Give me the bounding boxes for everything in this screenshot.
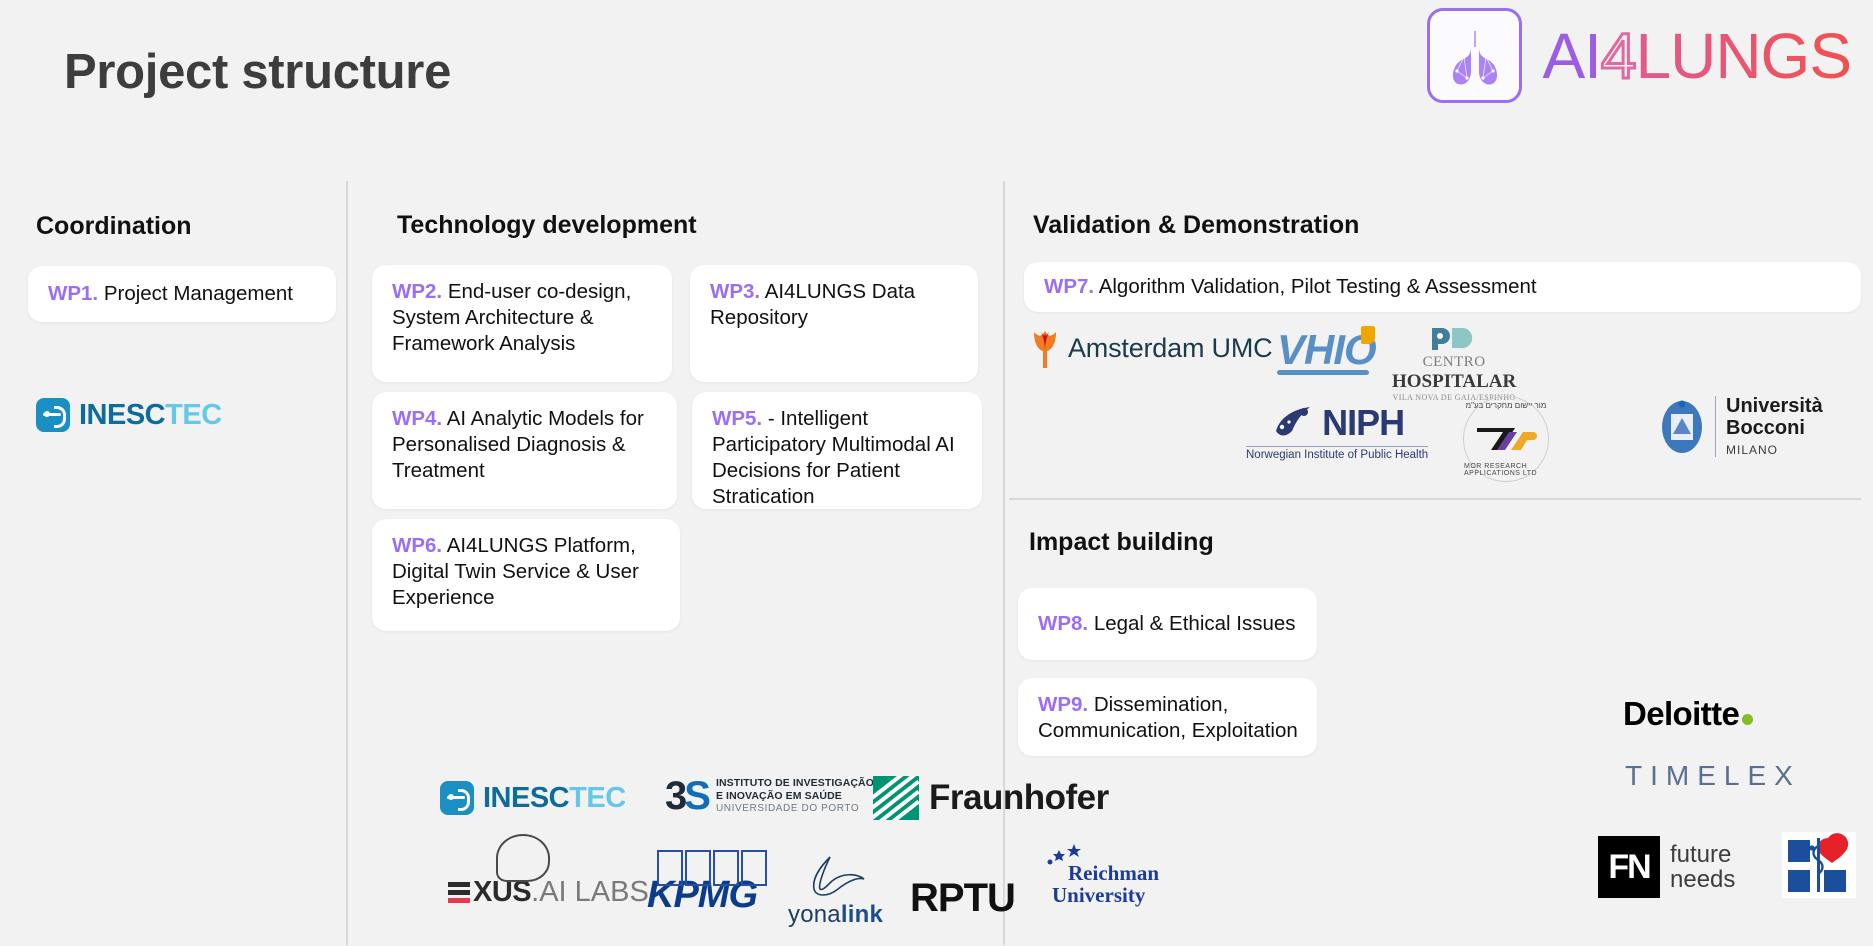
medical-partner-logo xyxy=(1782,832,1856,898)
centro-hospitalar-line-1: CENTRO xyxy=(1423,354,1486,371)
page-title: Project structure xyxy=(64,44,451,100)
lungs-icon xyxy=(1427,8,1522,103)
medical-partner-icon xyxy=(1782,832,1856,898)
exus-wordmark-light: .AI LABS xyxy=(531,876,649,909)
rptu-wordmark: RPTU xyxy=(910,876,1015,921)
i3s-text-block: INSTITUTO DE INVESTIGAÇÃO E INOVAÇÃO EM … xyxy=(716,777,874,815)
niph-mark-row: NIPH xyxy=(1270,402,1404,444)
inesctec-text-a: INESC xyxy=(483,782,569,814)
wp-tag: WP2. xyxy=(392,280,442,303)
wp-tag: WP1. xyxy=(48,282,98,305)
reichman-line-2: University xyxy=(1052,884,1145,906)
future-needs-logo: FN future needs xyxy=(1598,836,1735,898)
wp-tag: WP5. xyxy=(712,407,762,430)
bocconi-line-3: MILANO xyxy=(1726,443,1823,457)
bocconi-line-1: Università xyxy=(1726,396,1823,418)
brand-text-ai: AI xyxy=(1542,24,1600,88)
niph-logo: NIPH Norwegian Institute of Public Healt… xyxy=(1246,402,1428,461)
bocconi-text-block: Università Bocconi MILANO xyxy=(1715,396,1823,457)
wp-text: Legal & Ethical Issues xyxy=(1088,612,1295,635)
wp-card-wp7[interactable]: WP7. Algorithm Validation, Pilot Testing… xyxy=(1024,262,1861,312)
wp-tag: WP4. xyxy=(392,407,442,430)
future-needs-icon: FN xyxy=(1598,836,1660,898)
wp-card-wp6[interactable]: WP6. AI4LUNGS Platform, Digital Twin Ser… xyxy=(372,519,680,631)
inesctec-wordmark: INESCTEC xyxy=(79,399,222,432)
wp-card-wp5[interactable]: WP5. - Intelligent Participatory Multimo… xyxy=(692,392,982,509)
i3s-mark-s: S xyxy=(684,774,708,818)
universita-bocconi-logo: Università Bocconi MILANO xyxy=(1659,396,1823,457)
amsterdam-umc-logo: Amsterdam UMC xyxy=(1032,328,1272,368)
niph-subtitle: Norwegian Institute of Public Health xyxy=(1246,446,1428,461)
inesctec-text-a: INESC xyxy=(79,399,165,431)
future-needs-line-2: needs xyxy=(1670,867,1735,892)
wp-card-wp2[interactable]: WP2. End-user co-design, System Architec… xyxy=(372,265,672,382)
wp-card-wp4[interactable]: WP4. AI Analytic Models for Personalised… xyxy=(372,392,677,509)
column-divider-right xyxy=(1003,181,1005,945)
ai4lungs-logo: AI4LUNGS xyxy=(1427,8,1851,103)
future-needs-mark-text: FN xyxy=(1608,848,1649,887)
mor-circle-icon: מור יישום מחקרים בע"מ MOR RESEARCH APPLI… xyxy=(1463,396,1549,482)
amsterdam-umc-wordmark: Amsterdam UMC xyxy=(1068,333,1272,364)
section-divider-horizontal xyxy=(1009,498,1861,500)
vhio-accent-icon xyxy=(1361,326,1375,344)
inesctec-icon xyxy=(440,781,474,815)
timelex-wordmark: TIMELEX xyxy=(1625,760,1801,792)
centro-hospitalar-logo: CENTRO HOSPITALAR VILA NOVA DE GAIA/ESPI… xyxy=(1392,326,1516,402)
centro-hospitalar-line-2: HOSPITALAR xyxy=(1392,371,1516,393)
mor-stripes-icon xyxy=(1475,424,1537,454)
timelex-logo: TIMELEX xyxy=(1625,760,1801,792)
i3s-line-1: INSTITUTO DE INVESTIGAÇÃO xyxy=(716,777,874,790)
section-title-technology: Technology development xyxy=(397,211,697,240)
wp-card-wp9[interactable]: WP9. Dissemination, Communication, Explo… xyxy=(1018,678,1317,756)
i3s-line-3: UNIVERSIDADE DO PORTO xyxy=(716,803,874,815)
i3s-icon: 3S xyxy=(665,776,708,816)
amsterdam-umc-tulip-icon xyxy=(1032,328,1058,368)
exus-bars-icon xyxy=(448,882,470,903)
future-needs-wordmark: future needs xyxy=(1670,842,1735,892)
fraunhofer-icon xyxy=(873,776,919,820)
wp-text: Algorithm Validation, Pilot Testing & As… xyxy=(1094,275,1537,298)
exus-ai-labs-logo: XUS .AI LABS xyxy=(448,876,649,909)
bocconi-line-2: Bocconi xyxy=(1726,418,1823,440)
fraunhofer-wordmark: Fraunhofer xyxy=(929,778,1109,818)
wp-tag: WP3. xyxy=(710,280,760,303)
section-title-impact: Impact building xyxy=(1029,528,1214,557)
wp-card-wp8[interactable]: WP8. Legal & Ethical Issues xyxy=(1018,588,1317,660)
deloitte-wordmark: Deloitte xyxy=(1623,695,1753,733)
mor-text-english: MOR RESEARCH APPLICATIONS LTD xyxy=(1464,463,1548,477)
wp-text: Project Management xyxy=(98,282,293,305)
centro-hospitalar-icon xyxy=(1428,326,1480,352)
reichman-stars-icon xyxy=(1046,844,1086,870)
deloitte-text: Deloitte xyxy=(1623,695,1739,732)
wp-tag: WP8. xyxy=(1038,612,1088,635)
future-needs-line-1: future xyxy=(1670,842,1735,867)
brain-head-icon xyxy=(496,834,550,882)
deloitte-dot-icon xyxy=(1742,714,1753,725)
inesctec-text-b: TEC xyxy=(165,399,222,431)
yonalink-text-light: yona xyxy=(788,901,841,928)
i3s-line-2: E INOVAÇÃO EM SAÚDE xyxy=(716,790,874,803)
kpmg-boxes-icon xyxy=(657,850,767,886)
inesctec-icon xyxy=(36,398,70,432)
inesctec-logo: INESCTEC xyxy=(36,398,222,432)
bocconi-crest-icon xyxy=(1659,400,1705,454)
wp-card-wp3[interactable]: WP3. AI4LUNGS Data Repository xyxy=(690,265,978,382)
mor-research-applications-logo: מור יישום מחקרים בע"מ MOR RESEARCH APPLI… xyxy=(1463,396,1549,482)
wp-card-wp1[interactable]: WP1. Project Management xyxy=(28,266,336,322)
vhio-underline xyxy=(1277,370,1369,375)
yonalink-wordmark: yonalink xyxy=(788,901,883,929)
wp-tag: WP6. xyxy=(392,534,442,557)
inesctec-wordmark: INESCTEC xyxy=(483,782,626,815)
section-title-validation: Validation & Demonstration xyxy=(1033,211,1359,240)
kpmg-logo: KPMG xyxy=(647,874,757,917)
niph-figure-icon xyxy=(1270,403,1316,443)
reichman-university-logo: Reichman University xyxy=(1068,862,1159,906)
i3s-mark-3: 3 xyxy=(665,774,684,818)
brand-wordmark: AI4LUNGS xyxy=(1542,24,1851,88)
section-title-coordination: Coordination xyxy=(36,212,192,241)
yonalink-text-bold: link xyxy=(841,901,883,928)
slide-root: Project structure AI4LU xyxy=(0,0,1873,946)
yonalink-logo: yonalink xyxy=(788,855,883,929)
i3s-logo: 3S INSTITUTO DE INVESTIGAÇÃO E INOVAÇÃO … xyxy=(665,776,874,816)
wp-tag: WP7. xyxy=(1044,275,1094,298)
rptu-logo: RPTU xyxy=(910,876,1015,921)
mor-text-hebrew: מור יישום מחקרים בע"מ xyxy=(1466,401,1547,410)
brand-text-lungs: LUNGS xyxy=(1636,24,1852,88)
brand-text-4: 4 xyxy=(1601,24,1636,88)
niph-wordmark: NIPH xyxy=(1322,402,1404,444)
column-divider-left xyxy=(346,181,348,945)
deloitte-logo: Deloitte xyxy=(1623,695,1753,733)
inesctec-text-b: TEC xyxy=(569,782,626,814)
wp-tag: WP9. xyxy=(1038,693,1088,716)
inesctec-logo: INESCTEC xyxy=(440,781,626,815)
fraunhofer-logo: Fraunhofer xyxy=(873,776,1109,820)
yonalink-bird-icon xyxy=(804,855,868,901)
